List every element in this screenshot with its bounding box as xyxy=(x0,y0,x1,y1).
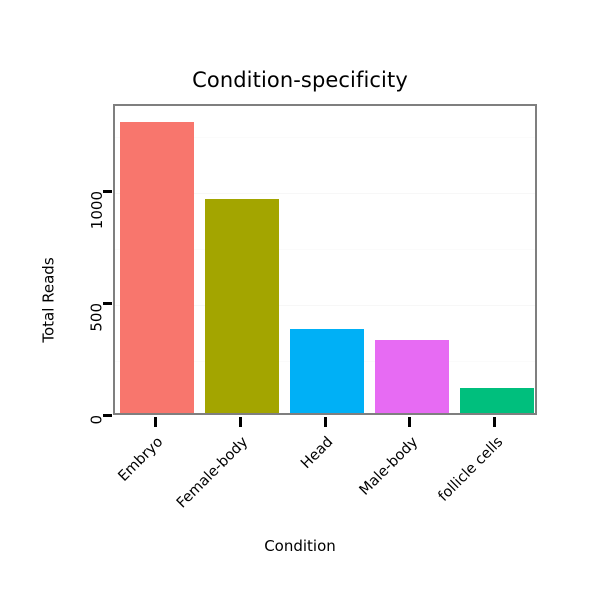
x-tick-mark xyxy=(154,417,157,427)
bars-layer xyxy=(115,106,535,413)
y-axis-title-label: Total Reads xyxy=(40,257,58,342)
y-tick-label: 500 xyxy=(88,303,106,332)
x-tick-mark xyxy=(324,417,327,427)
bar-chart-figure: Condition-specificity Total Reads 050010… xyxy=(0,0,600,600)
x-tick-label: Embryo xyxy=(0,434,167,600)
x-tick-mark xyxy=(239,417,242,427)
bar xyxy=(205,199,279,413)
chart-title: Condition-specificity xyxy=(0,68,600,92)
bar xyxy=(290,329,364,413)
y-tick-label: 0 xyxy=(88,415,106,425)
y-axis-title: Total Reads xyxy=(38,0,60,600)
x-tick-mark xyxy=(493,417,496,427)
bar xyxy=(375,340,449,413)
plot-panel xyxy=(113,104,537,415)
bar xyxy=(460,388,534,413)
bar xyxy=(120,122,194,413)
x-tick-mark xyxy=(408,417,411,427)
x-axis-title: Condition xyxy=(0,537,600,555)
y-tick-label: 1000 xyxy=(88,191,106,229)
